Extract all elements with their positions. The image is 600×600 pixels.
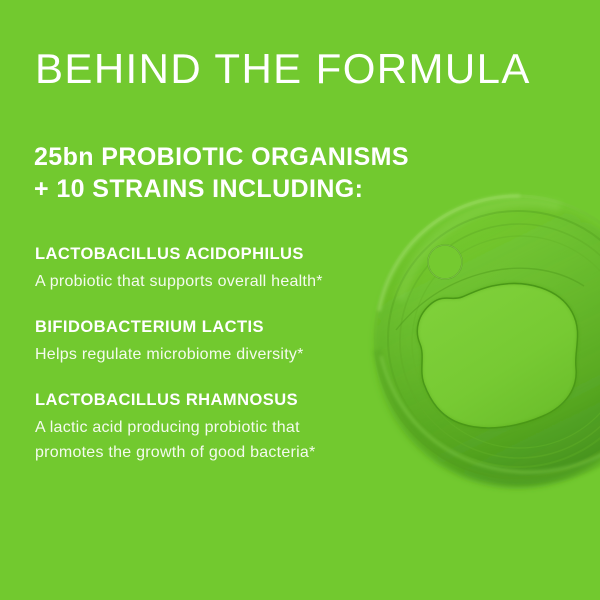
poster-content: BEHIND THE FORMULA 25bn PROBIOTIC ORGANI… [0, 0, 600, 600]
strain-list: LACTOBACILLUS ACIDOPHILUS A probiotic th… [35, 243, 365, 465]
headline-block: 25bn PROBIOTIC ORGANISMS + 10 STRAINS IN… [34, 141, 409, 205]
strain-item: LACTOBACILLUS RHAMNOSUS A lactic acid pr… [35, 389, 365, 465]
headline-line-2: + 10 STRAINS INCLUDING: [34, 173, 409, 205]
strain-name: LACTOBACILLUS RHAMNOSUS [35, 389, 365, 411]
strain-item: BIFIDOBACTERIUM LACTIS Helps regulate mi… [35, 316, 365, 367]
headline-line-1: 25bn PROBIOTIC ORGANISMS [34, 141, 409, 173]
strain-name: LACTOBACILLUS ACIDOPHILUS [35, 243, 365, 265]
strain-name: BIFIDOBACTERIUM LACTIS [35, 316, 365, 338]
strain-item: LACTOBACILLUS ACIDOPHILUS A probiotic th… [35, 243, 365, 294]
poster-canvas: BEHIND THE FORMULA 25bn PROBIOTIC ORGANI… [0, 0, 600, 600]
strain-description: A probiotic that supports overall health… [35, 269, 355, 294]
page-title: BEHIND THE FORMULA [35, 45, 531, 92]
strain-description: Helps regulate microbiome diversity* [35, 342, 355, 367]
strain-description: A lactic acid producing probiotic that p… [35, 415, 355, 465]
